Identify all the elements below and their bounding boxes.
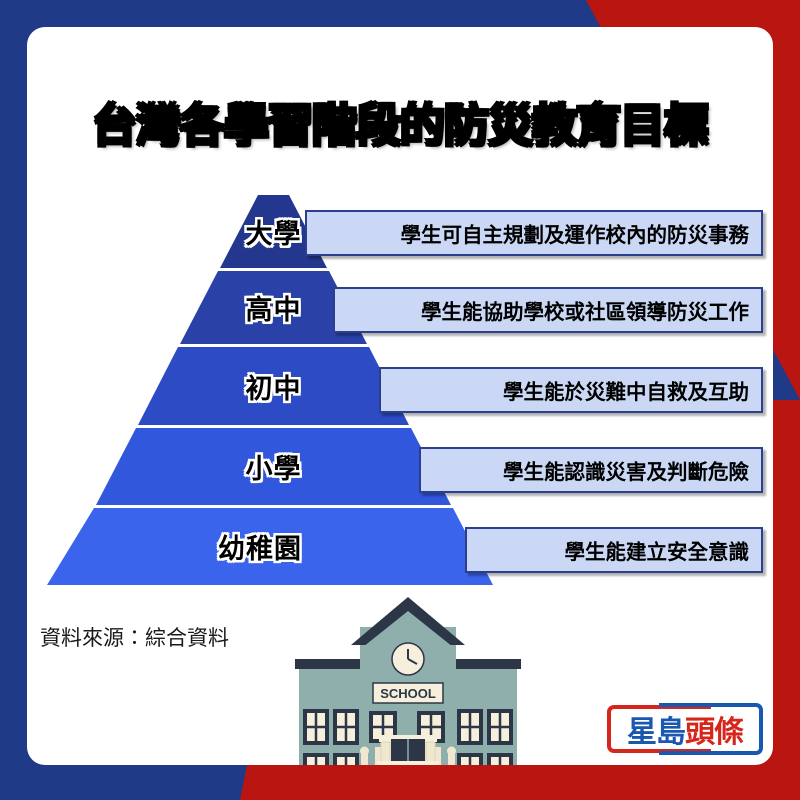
goal-text-kindergarten: 學生能建立安全意識	[565, 535, 762, 565]
source-note: 資料來源：綜合資料	[40, 622, 229, 652]
logo-wordmark: 星島頭條	[605, 703, 765, 755]
goal-panel-university: 學生可自主規劃及運作校內的防災事務	[305, 210, 763, 256]
goal-text-juniorhigh: 學生能於災難中自救及互助	[503, 375, 761, 405]
school-step-1	[377, 761, 439, 765]
goal-panel-highschool: 學生能協助學校或社區領導防災工作	[333, 287, 763, 333]
brand-logo[interactable]: 星島頭條	[605, 703, 765, 755]
infographic-canvas: 台灣各學習階段的防災教育目標 大學 高中	[0, 0, 800, 800]
logo-text-blue: 星島	[627, 707, 685, 751]
goal-panel-juniorhigh: 學生能於災難中自救及互助	[379, 367, 763, 413]
page-title: 台灣各學習階段的防災教育目標	[27, 89, 773, 154]
content-card: 台灣各學習階段的防災教育目標 大學 高中	[27, 27, 773, 765]
goal-text-university: 學生可自主規劃及運作校內的防災事務	[401, 218, 762, 248]
goal-panel-primary: 學生能認識災害及判斷危險	[419, 447, 763, 493]
goal-text-primary: 學生能認識災害及判斷危險	[503, 455, 761, 485]
goal-text-highschool: 學生能協助學校或社區領導防災工作	[421, 295, 761, 325]
logo-text-red: 頭條	[685, 707, 743, 751]
tier-label-kindergarten: 幼稚園	[27, 508, 513, 585]
school-building-illustration: SCHOOL	[293, 595, 523, 765]
school-sign-text: SCHOOL	[380, 686, 436, 701]
goal-panel-kindergarten: 學生能建立安全意識	[465, 527, 763, 573]
